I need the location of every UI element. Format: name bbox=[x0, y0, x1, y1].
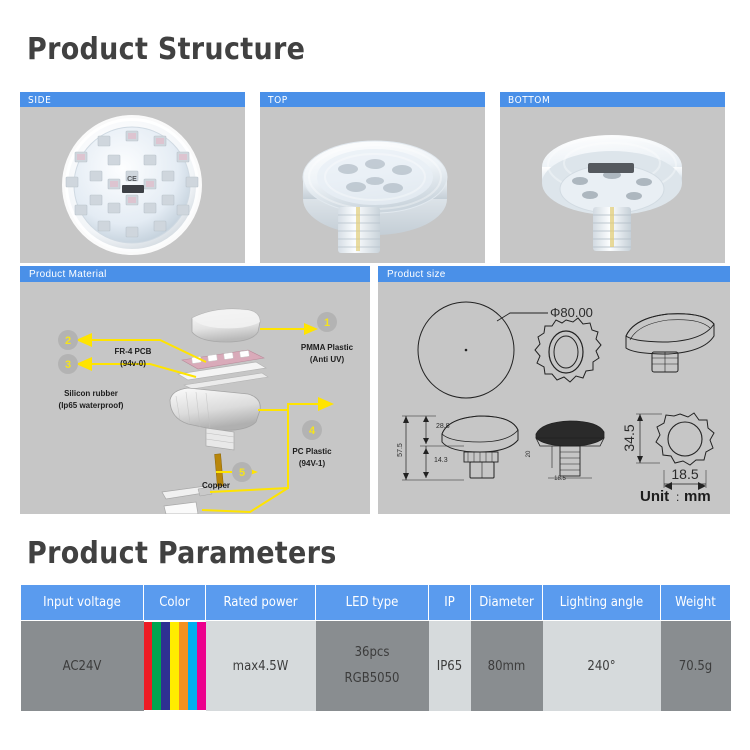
photo-panel-bottom: BOTTOM bbox=[500, 92, 725, 263]
photo-panel-side-label: SIDE bbox=[20, 92, 245, 107]
color-swatch-4 bbox=[170, 622, 179, 710]
value-weight: 70.5g bbox=[661, 621, 731, 712]
photo-panel-bottom-label: BOTTOM bbox=[500, 92, 725, 107]
value-ip: IP65 bbox=[429, 621, 471, 712]
material-panel-title: Product Material bbox=[20, 266, 370, 282]
value-diameter: 80mm bbox=[471, 621, 543, 712]
page-title-parameters: Product Parameters bbox=[27, 536, 337, 571]
color-swatch-strip bbox=[144, 622, 206, 710]
material-badge-3: 3 bbox=[58, 354, 78, 374]
material-label-3-spec: (Ip65 waterproof) bbox=[59, 401, 124, 410]
dimension-diameter: Φ80.00 bbox=[550, 305, 593, 320]
column-header-diameter: Diameter bbox=[471, 585, 543, 621]
material-label-2-name: FR-4 PCB bbox=[115, 347, 152, 356]
photo-panel-top: TOP bbox=[260, 92, 485, 263]
table-header-row: Input voltage Color Rated power LED type… bbox=[21, 585, 731, 621]
photo-panel-bottom-image bbox=[500, 107, 725, 263]
photo-panel-top-label: TOP bbox=[260, 92, 485, 107]
material-label-4-spec: (94V-1) bbox=[299, 459, 326, 468]
dimension-body-height: 28.8 bbox=[436, 423, 450, 430]
size-panel-title: Product size bbox=[378, 266, 730, 282]
column-header-weight: Weight bbox=[661, 585, 731, 621]
material-badge-2-number: 2 bbox=[65, 335, 71, 347]
photo-panel-side: SIDE bbox=[20, 92, 245, 263]
value-led-type-count: 36pcs bbox=[317, 640, 428, 666]
value-led-type-model: RGB5050 bbox=[317, 666, 428, 692]
column-header-lighting-angle: Lighting angle bbox=[543, 585, 661, 621]
column-header-rated-power: Rated power bbox=[206, 585, 316, 621]
dimension-nut-height: 34.5 bbox=[621, 424, 637, 451]
material-badge-5-number: 5 bbox=[239, 467, 245, 479]
material-badge-4-number: 4 bbox=[309, 425, 316, 437]
value-rated-power: max4.5W bbox=[206, 621, 316, 712]
color-swatch-2 bbox=[152, 622, 161, 710]
page-title-structure: Product Structure bbox=[27, 32, 305, 67]
column-header-led-type: LED type bbox=[316, 585, 429, 621]
material-label-2-spec: (94v-0) bbox=[120, 359, 146, 368]
unit-separator: : bbox=[676, 490, 679, 504]
material-label-1-name: PMMA Plastic bbox=[301, 343, 354, 352]
material-label-4-name: PC Plastic bbox=[292, 447, 332, 456]
svg-text:CE: CE bbox=[127, 176, 137, 183]
unit-label: Unit bbox=[640, 488, 669, 505]
material-label-1-spec: (Anti UV) bbox=[310, 355, 345, 364]
dimension-thread-width: 18.5 bbox=[554, 476, 566, 482]
column-header-ip: IP bbox=[429, 585, 471, 621]
parameters-table: Input voltage Color Rated power LED type… bbox=[20, 584, 730, 711]
material-badge-5: 5 bbox=[232, 462, 252, 482]
unit-value: mm bbox=[684, 488, 711, 505]
size-panel: Product size bbox=[378, 266, 730, 514]
material-badge-2: 2 bbox=[58, 330, 78, 350]
material-badge-4: 4 bbox=[302, 420, 322, 440]
size-diagram: Φ80.00 57.5 28.8 14.3 20 18.5 34.5 18.5 … bbox=[378, 282, 730, 514]
value-input-voltage: AC24V bbox=[21, 621, 144, 712]
material-label-3-name: Silicon rubber bbox=[64, 389, 118, 398]
dimension-stem-height: 14.3 bbox=[434, 457, 448, 464]
dimension-nut-width: 18.5 bbox=[671, 466, 698, 482]
dimension-overall-height: 57.5 bbox=[397, 443, 404, 457]
color-swatch-1 bbox=[144, 622, 153, 710]
color-swatch-3 bbox=[161, 622, 170, 710]
value-color-swatches bbox=[144, 621, 206, 712]
column-header-input-voltage: Input voltage bbox=[21, 585, 144, 621]
photo-panel-top-image bbox=[260, 107, 485, 263]
color-swatch-7 bbox=[197, 622, 206, 710]
material-label-5-name: Copper bbox=[202, 481, 230, 490]
value-led-type: 36pcs RGB5050 bbox=[316, 621, 429, 712]
material-diagram: 1 2 3 4 5 PMMA Plastic (Anti UV) FR-4 PC… bbox=[20, 282, 370, 514]
material-panel: Product Material bbox=[20, 266, 370, 514]
color-swatch-5 bbox=[179, 622, 188, 710]
dimension-thread-height: 20 bbox=[526, 450, 532, 457]
color-swatch-6 bbox=[188, 622, 197, 710]
material-badge-1-number: 1 bbox=[324, 317, 330, 329]
material-badge-3-number: 3 bbox=[65, 359, 71, 371]
value-lighting-angle: 240° bbox=[543, 621, 661, 712]
table-row: AC24V max4.5W 36pcs RGB5050 IP65 80mm 24… bbox=[21, 621, 731, 712]
column-header-color: Color bbox=[144, 585, 206, 621]
material-badge-1: 1 bbox=[317, 312, 337, 332]
photo-panel-side-image: CE bbox=[20, 107, 245, 263]
